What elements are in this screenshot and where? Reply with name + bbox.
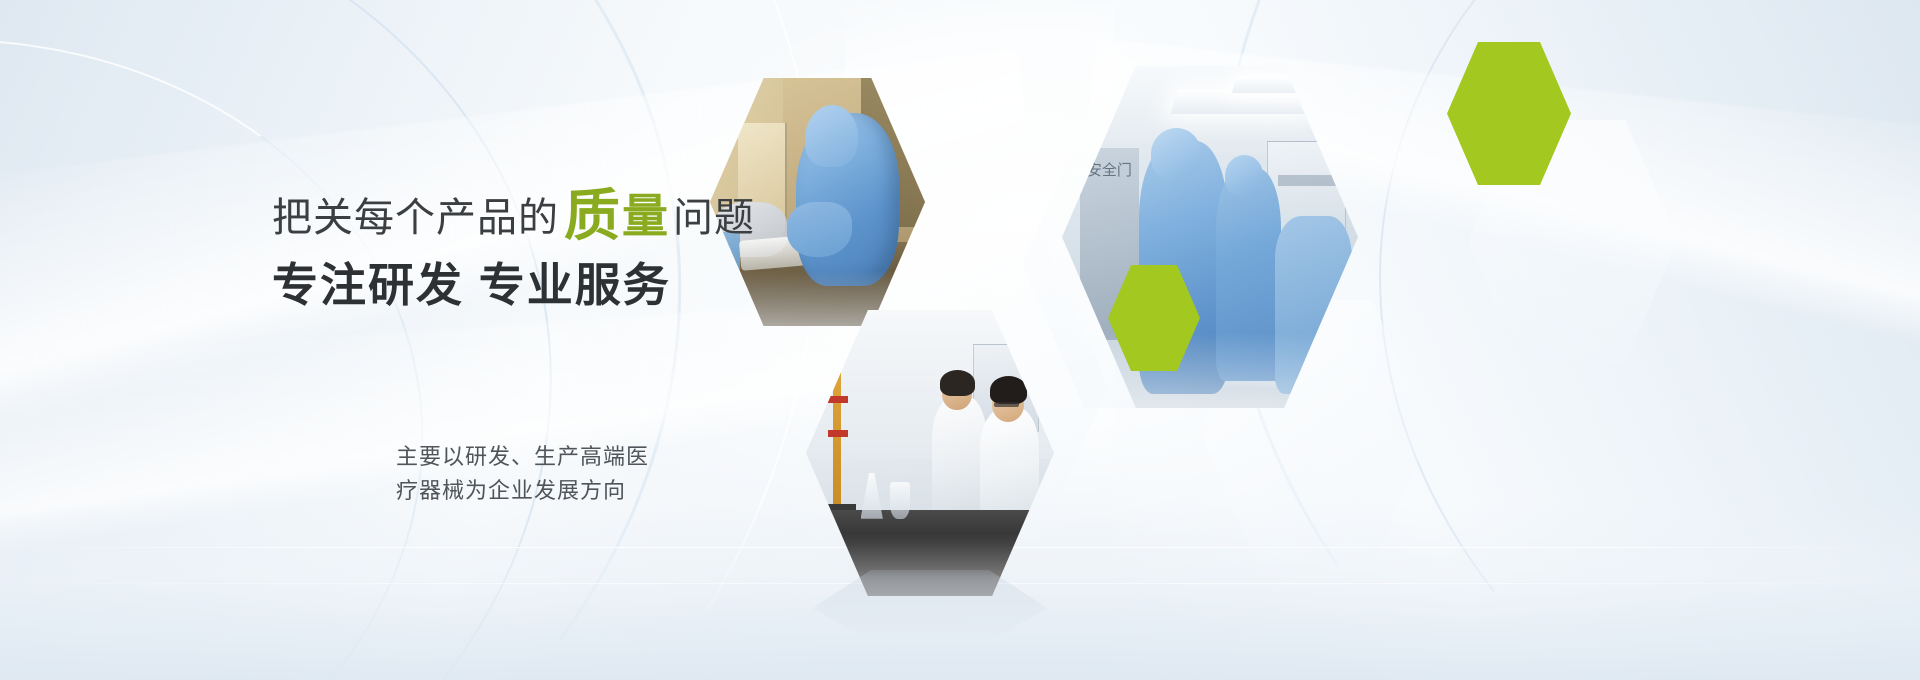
headline-line1-plain-tail: 问题 xyxy=(673,198,755,238)
photo-1-worker-hood xyxy=(805,105,859,167)
headline-line-2: 专注研发 专业服务 xyxy=(272,260,832,311)
photo-3-technician-1-hair xyxy=(940,370,975,396)
photo-2-ceiling-light-1 xyxy=(1171,90,1314,114)
hero-banner: 安全门 xyxy=(0,0,1920,680)
headline-accent-zhi: 质 xyxy=(564,188,621,244)
photo-2-safety-door-sign: 安全门 xyxy=(1086,162,1133,285)
photo-2-worker-2-hood xyxy=(1225,155,1263,196)
subtitle-text: 主要以研发、生产高端医 疗器械为企业发展方向 xyxy=(396,440,649,508)
photo-3-beaker xyxy=(890,482,910,519)
photo-2-worker-2-body xyxy=(1216,169,1281,381)
subtitle-line-2: 疗器械为企业发展方向 xyxy=(396,474,649,508)
headline-text-block: 把关每个产品的 质 量 问题 专注研发 专业服务 xyxy=(272,176,832,311)
photo-3-stand-clamp-2 xyxy=(828,430,848,437)
photo-2-worker-1-hood xyxy=(1151,128,1201,179)
headline-accent-liang: 量 xyxy=(622,193,669,239)
headline-line1-plain-lead: 把关每个产品的 xyxy=(272,198,559,238)
subtitle-row: 主要以研发、生产高端医 疗器械为企业发展方向 xyxy=(364,440,649,508)
photo-2-cabinet-vent xyxy=(1278,175,1337,185)
photo-3-stand-clamp-1 xyxy=(828,396,848,403)
subtitle-line-1: 主要以研发、生产高端医 xyxy=(396,440,649,474)
photo-3-technician-2-glasses xyxy=(994,402,1019,408)
headline-line-1: 把关每个产品的 质 量 问题 xyxy=(272,176,832,238)
photo-3-technician-2-hair xyxy=(990,376,1027,405)
